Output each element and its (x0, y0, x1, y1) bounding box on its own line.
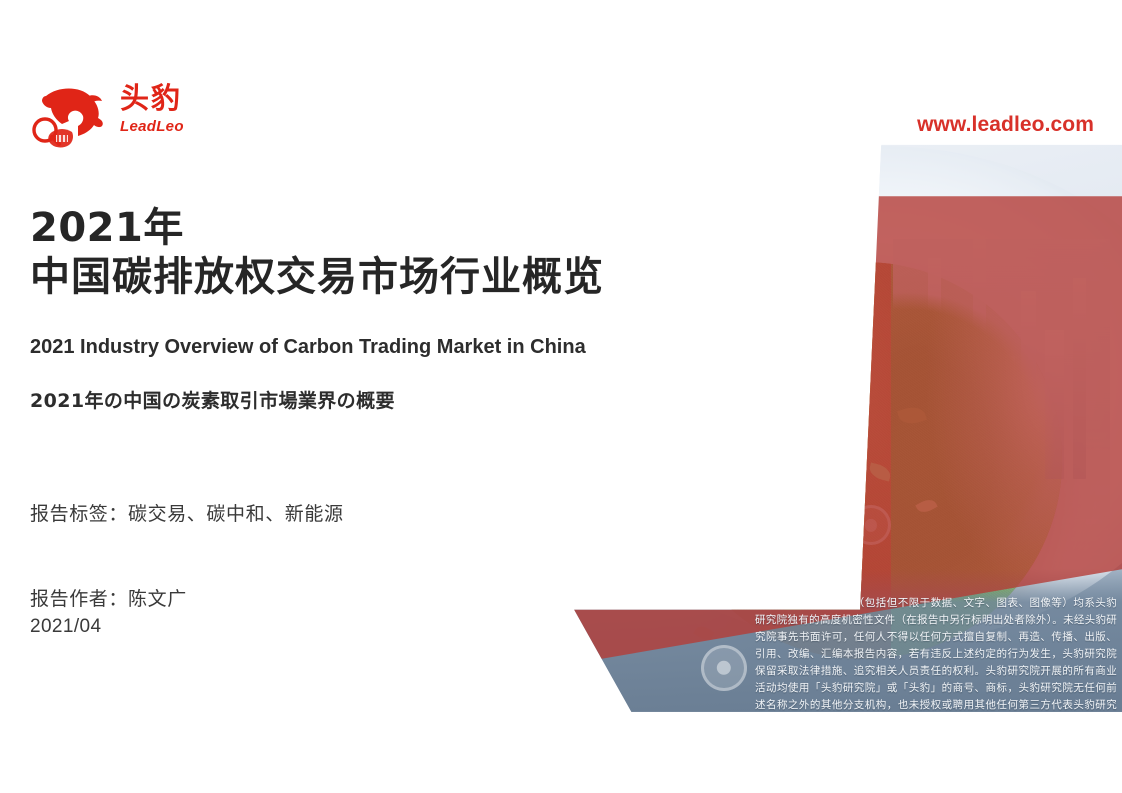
brand-logo[interactable]: 头豹 LeadLeo (28, 78, 208, 160)
report-tags: 报告标签：碳交易、碳中和、新能源 (30, 500, 500, 529)
recycle-roundel-icon (701, 645, 747, 691)
subtitle-japanese: 2021年の中国の炭素取引市場業界の概要 (30, 388, 650, 415)
brand-name-en: LeadLeo (120, 118, 212, 135)
site-url-link[interactable]: www.leadleo.com (917, 113, 1094, 137)
report-meta-block: 报告标签：碳交易、碳中和、新能源 报告作者：陈文广 2021/04 (30, 500, 500, 641)
title-block: 2021年 中国碳排放权交易市场行业概览 2021 Industry Overv… (30, 205, 650, 414)
report-author-block: 报告作者：陈文广 2021/04 (30, 585, 500, 641)
leopard-head-icon (28, 80, 108, 156)
recycle-roundel-icon (664, 378, 692, 406)
leaf-icon (632, 554, 657, 576)
globe-desert-half (664, 262, 890, 659)
report-author: 报告作者：陈文广 (30, 585, 500, 614)
slide-canvas: 头豹 LeadLeo www.leadleo.com (0, 0, 1122, 793)
report-year: 2021年 (30, 205, 650, 252)
disclaimer-text: 报告提供的任何内容（包括但不限于数据、文字、图表、图像等）均系头豹研究院独有的高… (755, 595, 1117, 720)
report-date: 2021/04 (30, 613, 500, 641)
brand-name-cn: 头豹 (120, 84, 212, 114)
page-title: 中国碳排放权交易市场行业概览 (30, 252, 650, 303)
brand-wordmark: 头豹 LeadLeo (120, 84, 212, 135)
subtitle-english: 2021 Industry Overview of Carbon Trading… (30, 333, 605, 361)
